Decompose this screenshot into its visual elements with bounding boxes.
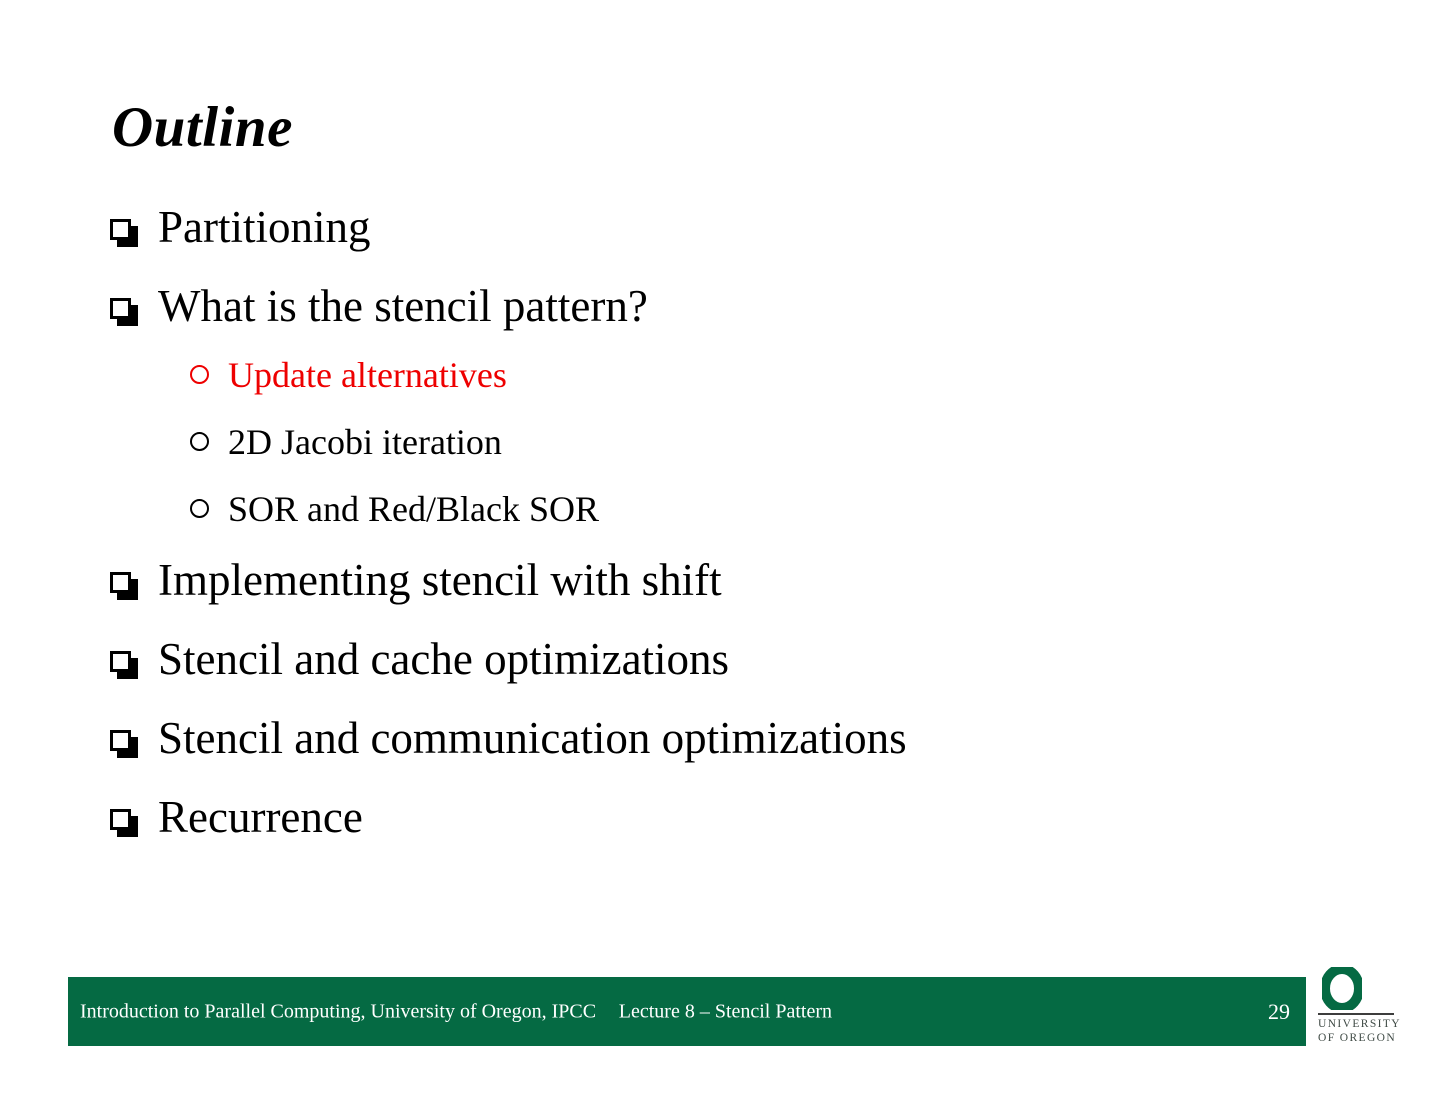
hollow-square-icon (110, 637, 158, 677)
university-of-oregon-logo: UNIVERSITY OF OREGON (1314, 963, 1410, 1049)
footer-page-number: 29 (1268, 999, 1290, 1025)
hollow-square-icon (110, 795, 158, 835)
hollow-square-icon (110, 558, 158, 598)
outline-item-partitioning[interactable]: Partitioning (110, 205, 1340, 250)
hollow-circle-icon (190, 424, 228, 457)
page-title: Outline (112, 98, 293, 158)
outline-subitem-label: 2D Jacobi iteration (228, 424, 1340, 460)
outline-item-label: Implementing stencil with shift (158, 558, 1340, 603)
outline-item-label: Stencil and communication optimizations (158, 716, 1340, 761)
outline-subitem-label: Update alternatives (228, 357, 1340, 393)
outline-item-label: Recurrence (158, 795, 1340, 840)
logo-oregon-text: OF OREGON (1318, 1032, 1396, 1044)
outline-subitem-update-alternatives[interactable]: Update alternatives (190, 357, 1340, 393)
outline-subitem-sor-red-black-sor[interactable]: SOR and Red/Black SOR (190, 491, 1340, 527)
footer-course-text: Introduction to Parallel Computing, Univ… (80, 1000, 596, 1023)
outline-item-implementing-stencil-with-shift[interactable]: Implementing stencil with shift (110, 558, 1340, 603)
hollow-square-icon (110, 716, 158, 756)
slide-canvas: Outline Partitioning What is the stencil… (0, 0, 1440, 1113)
logo-divider-rule (1318, 1013, 1394, 1015)
outline-subitem-label: SOR and Red/Black SOR (228, 491, 1340, 527)
outline-subitem-2d-jacobi-iteration[interactable]: 2D Jacobi iteration (190, 424, 1340, 460)
hollow-square-icon (110, 284, 158, 324)
hollow-circle-icon (190, 491, 228, 524)
outline-list: Partitioning What is the stencil pattern… (110, 205, 1340, 874)
hollow-circle-icon (190, 357, 228, 390)
footer-lecture-text: Lecture 8 – Stencil Pattern (619, 1000, 832, 1023)
outline-item-label: Partitioning (158, 205, 1340, 250)
outline-item-label: What is the stencil pattern? (158, 284, 1340, 329)
outline-sublist-stencil-pattern: Update alternatives 2D Jacobi iteration … (190, 357, 1340, 527)
outline-item-stencil-and-communication-optimizations[interactable]: Stencil and communication optimizations (110, 716, 1340, 761)
outline-item-stencil-and-cache-optimizations[interactable]: Stencil and cache optimizations (110, 637, 1340, 682)
hollow-square-icon (110, 205, 158, 245)
outline-item-stencil-pattern[interactable]: What is the stencil pattern? (110, 284, 1340, 329)
footer-bar: Introduction to Parallel Computing, Univ… (68, 977, 1306, 1046)
uo-o-mark-icon (1322, 967, 1362, 1010)
logo-university-text: UNIVERSITY (1318, 1018, 1401, 1030)
outline-item-label: Stencil and cache optimizations (158, 637, 1340, 682)
outline-item-recurrence[interactable]: Recurrence (110, 795, 1340, 840)
